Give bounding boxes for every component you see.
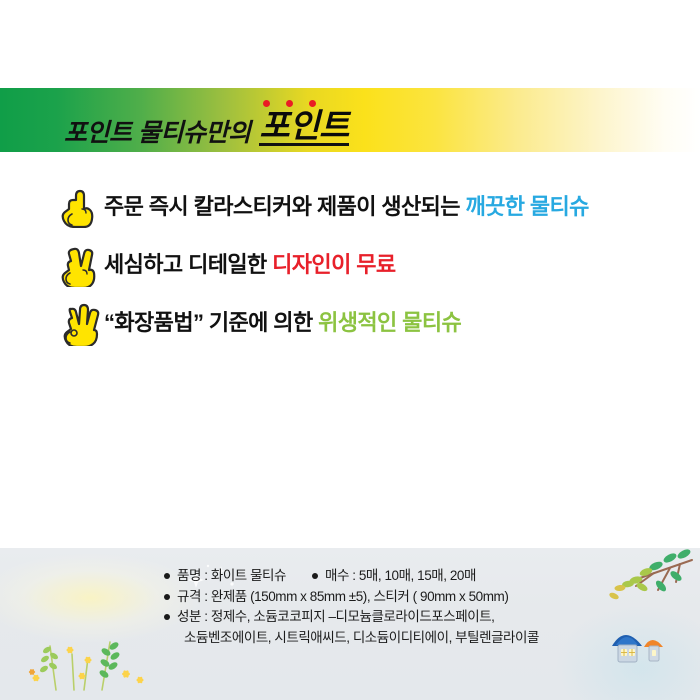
footer-bullet-icon [164, 573, 170, 579]
footer-label-count: 매수 : [325, 566, 356, 587]
points-list: 주문 즉시 칼라스티커와 제품이 생산되는 깨끗한 물티슈 세심하고 디테일한 … [56, 178, 656, 352]
footer-value-ingredients-2: 소듐벤조에이트, 시트릭애씨드, 디소듐이디티에이, 부틸렌글라이콜 [184, 628, 539, 649]
point-item-1: 주문 즉시 칼라스티커와 제품이 생산되는 깨끗한 물티슈 [56, 178, 656, 236]
point-text-1-highlight: 깨끗한 물티슈 [465, 194, 588, 219]
point-text-1-plain: 주문 즉시 칼라스티커와 제품이 생산되는 [104, 194, 460, 219]
hand-three-fingers-icon [56, 300, 102, 346]
hand-two-fingers-icon [56, 242, 102, 288]
hand-one-finger-icon [56, 184, 102, 230]
footer-label-ingredients: 성분 : [177, 607, 208, 628]
point-text-3-highlight: 위생적인 물티슈 [318, 310, 461, 335]
point-text-1: 주문 즉시 칼라스티커와 제품이 생산되는 깨끗한 물티슈 [104, 195, 589, 219]
page-title-emphasis: 포인트 [259, 109, 349, 146]
footer-label-size: 규격 : [177, 587, 208, 608]
slide-canvas: 포인트 물티슈만의 포인트 주문 즉 [0, 0, 700, 700]
flowers-decoration-icon [14, 598, 164, 698]
emphasis-dot-1 [263, 100, 270, 107]
point-text-3-plain: “화장품법” 기준에 의한 [104, 310, 313, 335]
emphasis-dot-2 [286, 100, 293, 107]
point-text-2-highlight: 디자인이 무료 [272, 252, 395, 277]
footer-value-size: 완제품 (150mm x 85mm ±5), 스티커 ( 90mm x 50mm… [211, 587, 509, 608]
point-text-2-plain: 세심하고 디테일한 [104, 252, 267, 277]
page-title-plain: 포인트 물티슈만의 [64, 121, 250, 148]
footer-value-count: 5매, 10매, 15매, 20매 [359, 566, 476, 587]
page-title-emphasis-wrap: 포인트 [259, 109, 349, 148]
emphasis-dots [263, 100, 316, 107]
emphasis-dot-3 [309, 100, 316, 107]
point-item-2: 세심하고 디테일한 디자인이 무료 [56, 236, 656, 294]
footer-line-product: 품명 : 화이트 물티슈 매수 : 5매, 10매, 15매, 20매 [164, 566, 634, 587]
footer-line-ingredients-cont: 소듐벤조에이트, 시트릭애씨드, 디소듐이디티에이, 부틸렌글라이콜 [164, 628, 634, 649]
point-text-2: 세심하고 디테일한 디자인이 무료 [104, 253, 396, 277]
point-text-3: “화장품법” 기준에 의한 위생적인 물티슈 [104, 311, 461, 335]
footer-bullet-icon-4 [164, 614, 170, 620]
footer-spec-list: 품명 : 화이트 물티슈 매수 : 5매, 10매, 15매, 20매 규격 :… [164, 566, 634, 648]
page-title: 포인트 물티슈만의 포인트 [64, 96, 349, 148]
footer-label-product: 품명 : [177, 566, 208, 587]
point-item-3: “화장품법” 기준에 의한 위생적인 물티슈 [56, 294, 656, 352]
footer-bullet-icon-3 [164, 594, 170, 600]
footer-value-ingredients-1: 정제수, 소듐코코피지 –디모늄클로라이드포스페이트, [211, 607, 495, 628]
footer-bullet-icon-2 [312, 573, 318, 579]
footer-line-ingredients: 성분 : 정제수, 소듐코코피지 –디모늄클로라이드포스페이트, [164, 607, 634, 628]
footer-value-product: 화이트 물티슈 [211, 566, 286, 587]
footer-line-size: 규격 : 완제품 (150mm x 85mm ±5), 스티커 ( 90mm x… [164, 587, 634, 608]
